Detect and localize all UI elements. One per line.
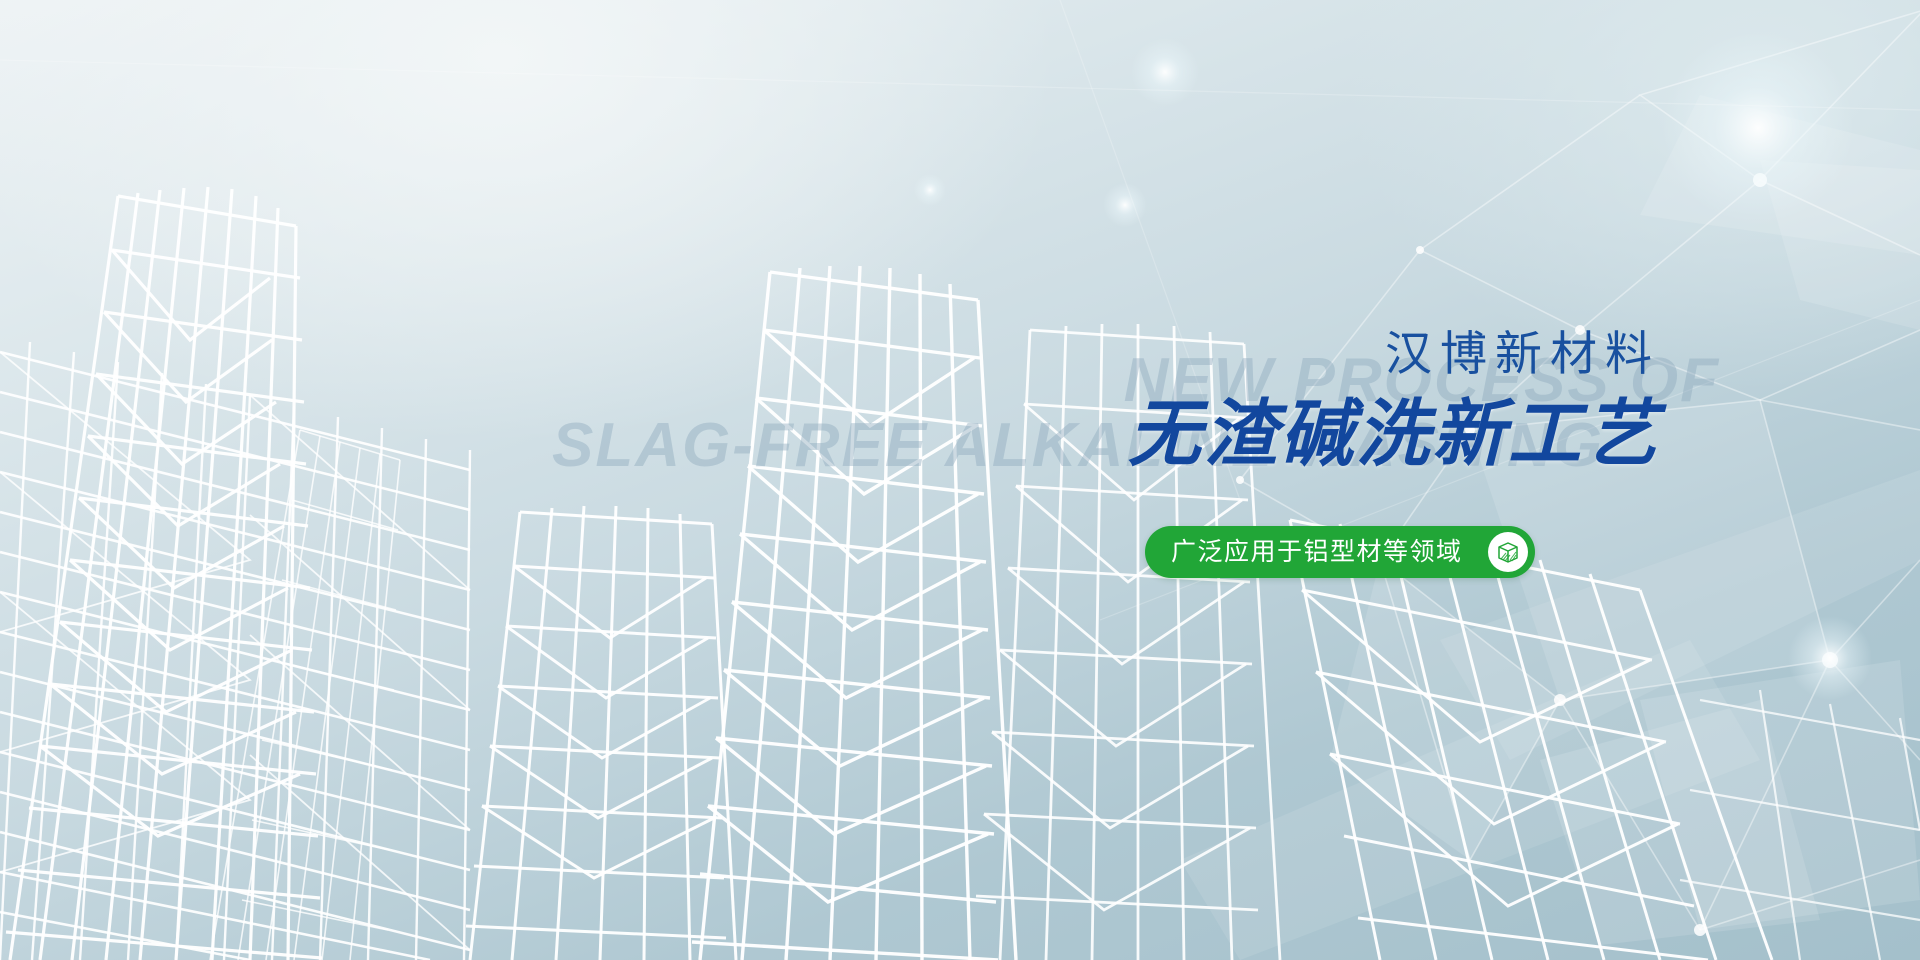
hero-banner: NEW PROCESS OF SLAG-FREE ALKALINE WASHIN… (0, 0, 1920, 960)
page-title: 无渣碱洗新工艺 (1128, 398, 1660, 471)
application-cta-pill[interactable]: 广泛应用于铝型材等领域 (1145, 526, 1535, 578)
banner-content: NEW PROCESS OF SLAG-FREE ALKALINE WASHIN… (1140, 330, 1660, 660)
cube-icon (1488, 532, 1528, 572)
brand-name: 汉博新材料 (1385, 330, 1660, 377)
cta-label: 广泛应用于铝型材等领域 (1171, 540, 1463, 565)
